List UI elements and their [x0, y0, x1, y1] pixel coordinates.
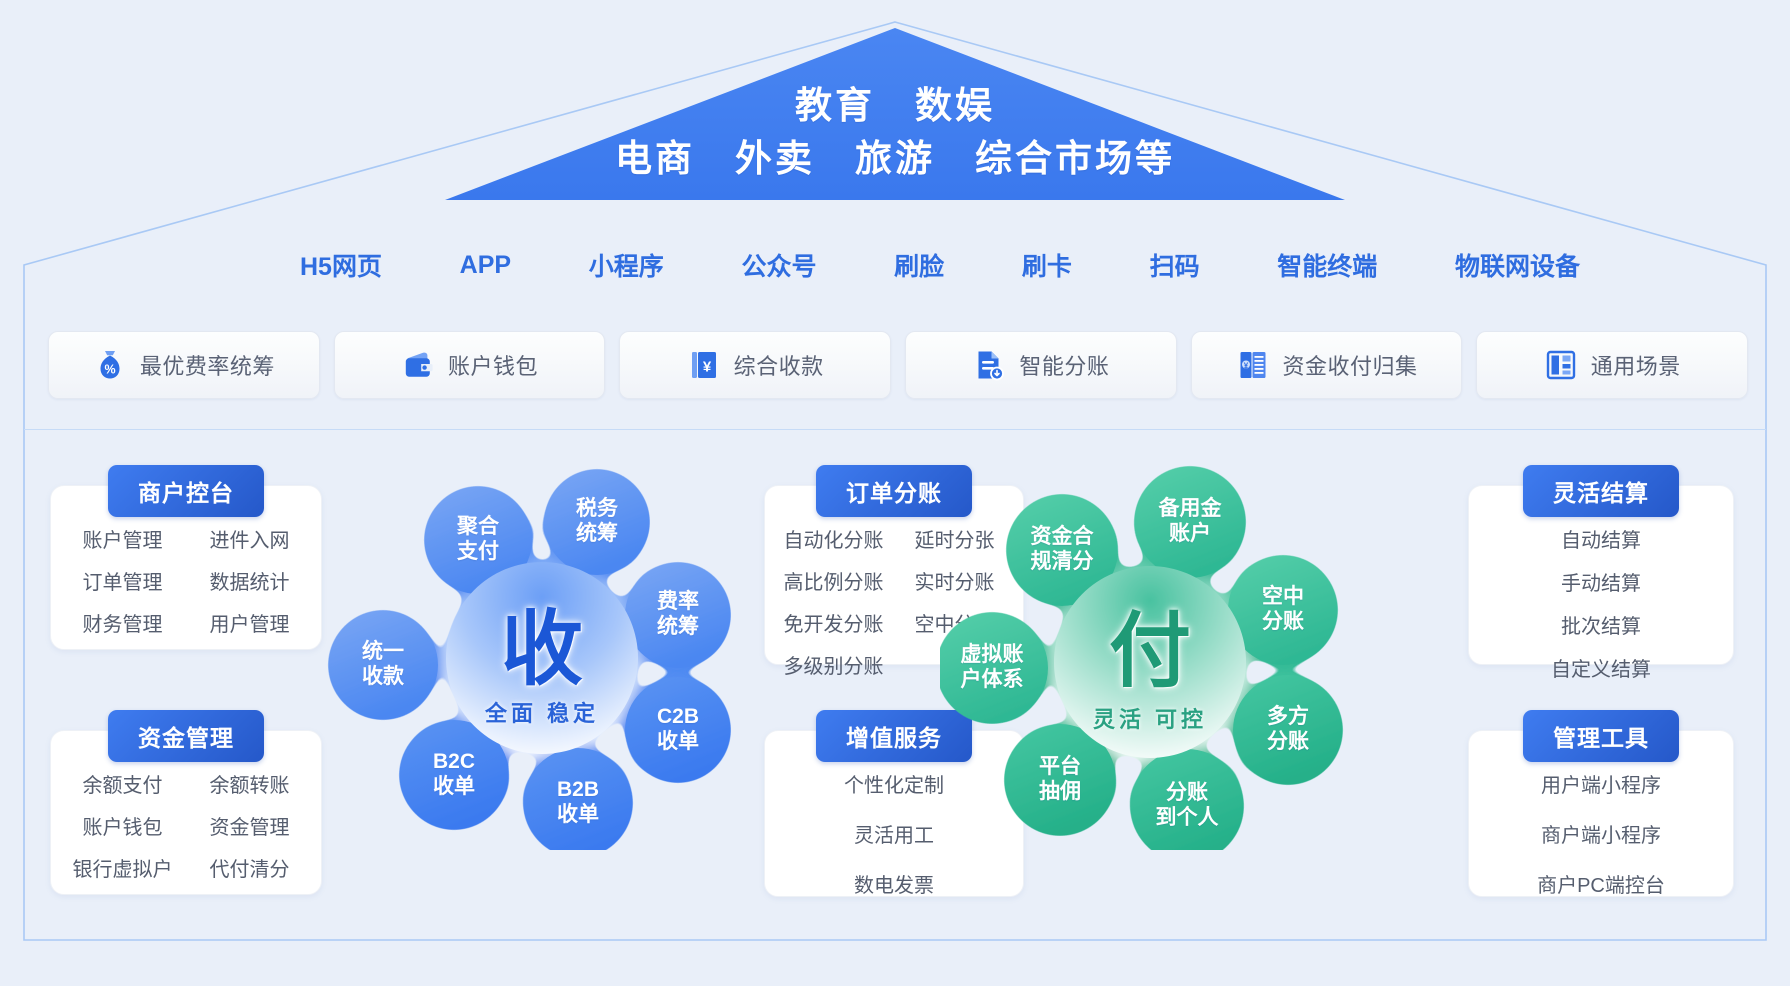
panel-item[interactable]: 进件入网: [210, 524, 290, 553]
grid-layout-icon: [1544, 348, 1578, 382]
panel-item[interactable]: 数据统计: [210, 566, 290, 595]
panel-item[interactable]: 账户钱包: [83, 811, 163, 840]
panel-item[interactable]: 代付清分: [210, 853, 290, 882]
cluster-pay: 付 灵活 可控 资金合 规清分 备用金 账户 空中 分账 多方 分账 分账 到个…: [940, 430, 1360, 850]
panel-item[interactable]: 资金管理: [210, 811, 290, 840]
panel-item[interactable]: 灵活用工: [854, 819, 934, 848]
panel-item[interactable]: 多级别分账: [784, 650, 884, 679]
panel-item[interactable]: 免开发分账: [784, 608, 884, 637]
channel-item-faceswipe[interactable]: 刷脸: [894, 247, 944, 283]
channel-list: H5网页 APP 小程序 公众号 刷脸 刷卡 扫码 智能终端 物联网设备: [300, 247, 1580, 283]
yen-book-icon: ¥: [687, 348, 721, 382]
panel-item[interactable]: 高比例分账: [784, 566, 884, 595]
capability-card-best-rate[interactable]: % 最优费率统筹: [48, 331, 320, 399]
panel-fund-management: 资金管理 余额支付 余额转账 账户钱包 资金管理 银行虚拟户 代付清分: [50, 730, 322, 895]
section-divider: [24, 429, 1766, 430]
channel-item-qrcode[interactable]: 扫码: [1150, 247, 1200, 283]
panel-item[interactable]: 批次结算: [1561, 610, 1641, 639]
channel-item-miniapp[interactable]: 小程序: [589, 247, 664, 283]
roof-line-1: 教育 数娱: [0, 82, 1790, 129]
panel-item[interactable]: 用户管理: [210, 608, 290, 637]
panel-item[interactable]: 自动结算: [1561, 524, 1641, 553]
panel-item[interactable]: 用户端小程序: [1541, 769, 1661, 798]
panel-item[interactable]: 财务管理: [83, 608, 163, 637]
channel-item-app[interactable]: APP: [460, 251, 511, 280]
panel-item[interactable]: 数电发票: [854, 869, 934, 898]
panel-item[interactable]: 商户端小程序: [1541, 819, 1661, 848]
ledger-book-icon: ¥: [1236, 348, 1270, 382]
capability-card-general-scene[interactable]: 通用场景: [1476, 331, 1748, 399]
money-bag-percent-icon: %: [93, 348, 127, 382]
panel-item[interactable]: 余额转账: [210, 769, 290, 798]
capability-card-fund-collection[interactable]: ¥ 资金收付归集: [1191, 331, 1463, 399]
capability-label: 最优费率统筹: [140, 349, 275, 381]
panel-item[interactable]: 银行虚拟户: [73, 853, 173, 882]
channel-item-iot-device[interactable]: 物联网设备: [1455, 247, 1580, 283]
panel-item[interactable]: 自动化分账: [784, 524, 884, 553]
capability-label: 资金收付归集: [1283, 349, 1418, 381]
panel-item[interactable]: 账户管理: [83, 524, 163, 553]
panel-item[interactable]: 个性化定制: [844, 769, 944, 798]
svg-text:¥: ¥: [1243, 361, 1248, 370]
svg-text:¥: ¥: [703, 359, 712, 376]
panel-title-fund-management: 资金管理: [108, 710, 264, 762]
capability-card-smart-split[interactable]: 智能分账: [905, 331, 1177, 399]
capability-label: 综合收款: [734, 349, 824, 381]
diagram-canvas: 教育 数娱 电商 外卖 旅游 综合市场等 H5网页 APP 小程序 公众号 刷脸…: [0, 0, 1790, 986]
capability-label: 账户钱包: [448, 349, 538, 381]
channel-item-h5[interactable]: H5网页: [300, 247, 382, 283]
capability-label: 通用场景: [1591, 349, 1681, 381]
roof-text: 教育 数娱 电商 外卖 旅游 综合市场等: [0, 82, 1790, 183]
panel-item[interactable]: 商户PC端控台: [1537, 869, 1665, 898]
cluster-receive-shape: [320, 430, 740, 850]
roof-line-2: 电商 外卖 旅游 综合市场等: [0, 135, 1790, 182]
capability-label: 智能分账: [1019, 349, 1109, 381]
capability-card-comprehensive-collection[interactable]: ¥ 综合收款: [619, 331, 891, 399]
wallet-icon: [401, 348, 435, 382]
cluster-pay-shape: [940, 430, 1360, 850]
capability-card-account-wallet[interactable]: 账户钱包: [334, 331, 606, 399]
panel-title-flexible-settlement: 灵活结算: [1523, 465, 1679, 517]
capability-card-row: % 最优费率统筹 账户钱包 ¥ 综合收款: [48, 331, 1748, 399]
channel-item-cardswipe[interactable]: 刷卡: [1022, 247, 1072, 283]
channel-item-smart-terminal[interactable]: 智能终端: [1277, 247, 1377, 283]
panel-merchant-console: 商户控台 账户管理 进件入网 订单管理 数据统计 财务管理 用户管理: [50, 485, 322, 650]
panel-item[interactable]: 手动结算: [1561, 567, 1641, 596]
panel-title-management-tools: 管理工具: [1523, 710, 1679, 762]
panel-item[interactable]: 自定义结算: [1551, 653, 1651, 682]
panel-title-merchant-console: 商户控台: [108, 465, 264, 517]
panel-item[interactable]: 余额支付: [83, 769, 163, 798]
channel-item-official[interactable]: 公众号: [741, 247, 816, 283]
panel-management-tools: 管理工具 用户端小程序 商户端小程序 商户PC端控台: [1468, 730, 1734, 897]
cluster-receive: 收 全面 稳定 聚合 支付 税务 统筹 费率 统筹 C2B 收单 B2B 收单 …: [320, 430, 740, 850]
panel-item[interactable]: 订单管理: [83, 566, 163, 595]
svg-text:%: %: [104, 363, 115, 377]
panel-flexible-settlement: 灵活结算 自动结算 手动结算 批次结算 自定义结算: [1468, 485, 1734, 665]
document-split-icon: [972, 348, 1006, 382]
